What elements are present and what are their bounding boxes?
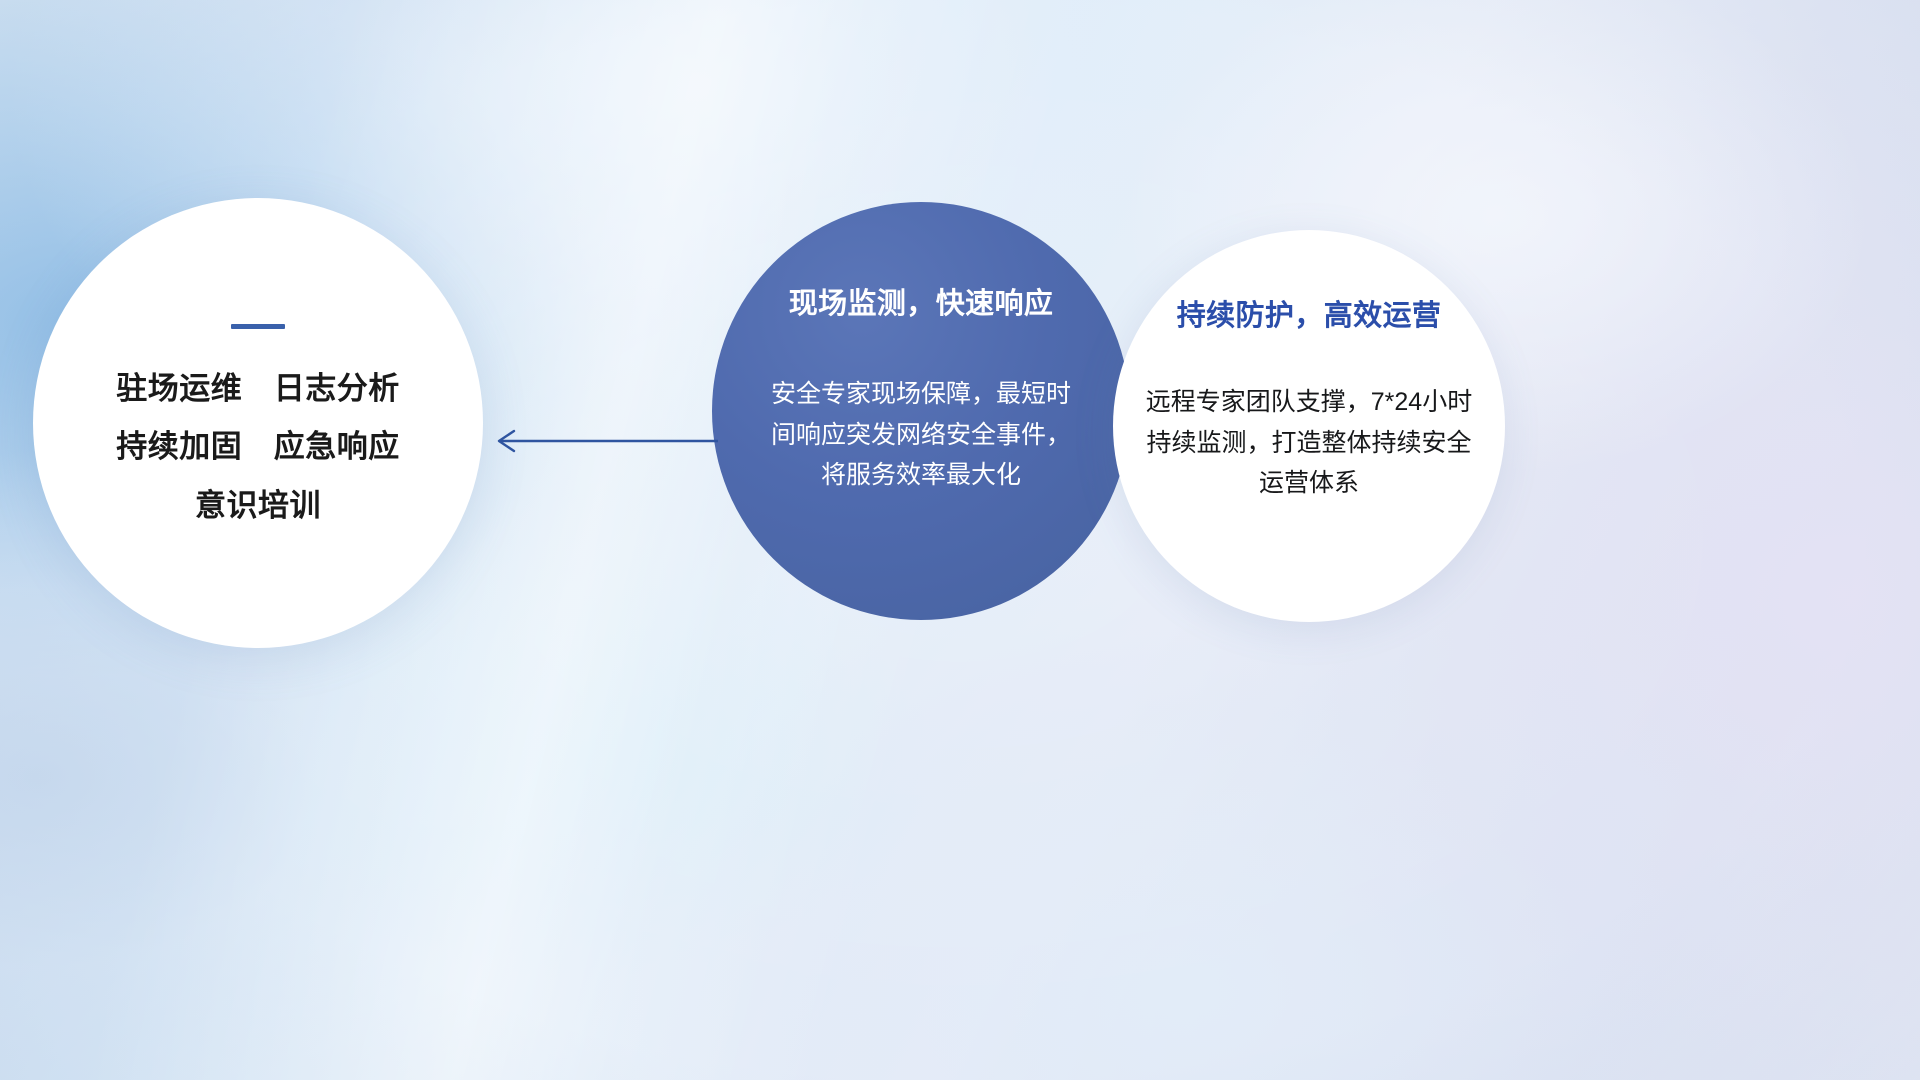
left-capability-circle[interactable]: 驻场运维 日志分析 持续加固 应急响应 意识培训 bbox=[33, 198, 483, 648]
capability-list: 驻场运维 日志分析 持续加固 应急响应 意识培训 bbox=[116, 373, 400, 523]
leftward-flow-arrow bbox=[480, 418, 720, 462]
title-divider-dash bbox=[231, 324, 285, 329]
continuous-protection-circle[interactable]: 持续防护，高效运营 远程专家团队支撑，7*24小时持续监测，打造整体持续安全运营… bbox=[1113, 230, 1505, 622]
continuous-protection-title: 持续防护，高效运营 bbox=[1177, 292, 1442, 334]
capability-line-2: 持续加固 应急响应 bbox=[116, 431, 400, 464]
onsite-monitoring-circle[interactable]: 现场监测，快速响应 安全专家现场保障，最短时间响应突发网络安全事件，将服务效率最… bbox=[712, 202, 1130, 620]
onsite-monitoring-body: 安全专家现场保障，最短时间响应突发网络安全事件，将服务效率最大化 bbox=[771, 374, 1071, 496]
capability-line-1: 驻场运维 日志分析 bbox=[116, 373, 400, 406]
onsite-monitoring-title: 现场监测，快速响应 bbox=[789, 280, 1054, 322]
capability-line-3: 意识培训 bbox=[195, 490, 321, 523]
continuous-protection-body: 远程专家团队支撑，7*24小时持续监测，打造整体持续安全运营体系 bbox=[1144, 382, 1474, 504]
slide-canvas: 驻场运维 日志分析 持续加固 应急响应 意识培训 现场监测，快速响应 安全专家现… bbox=[0, 0, 1920, 1080]
